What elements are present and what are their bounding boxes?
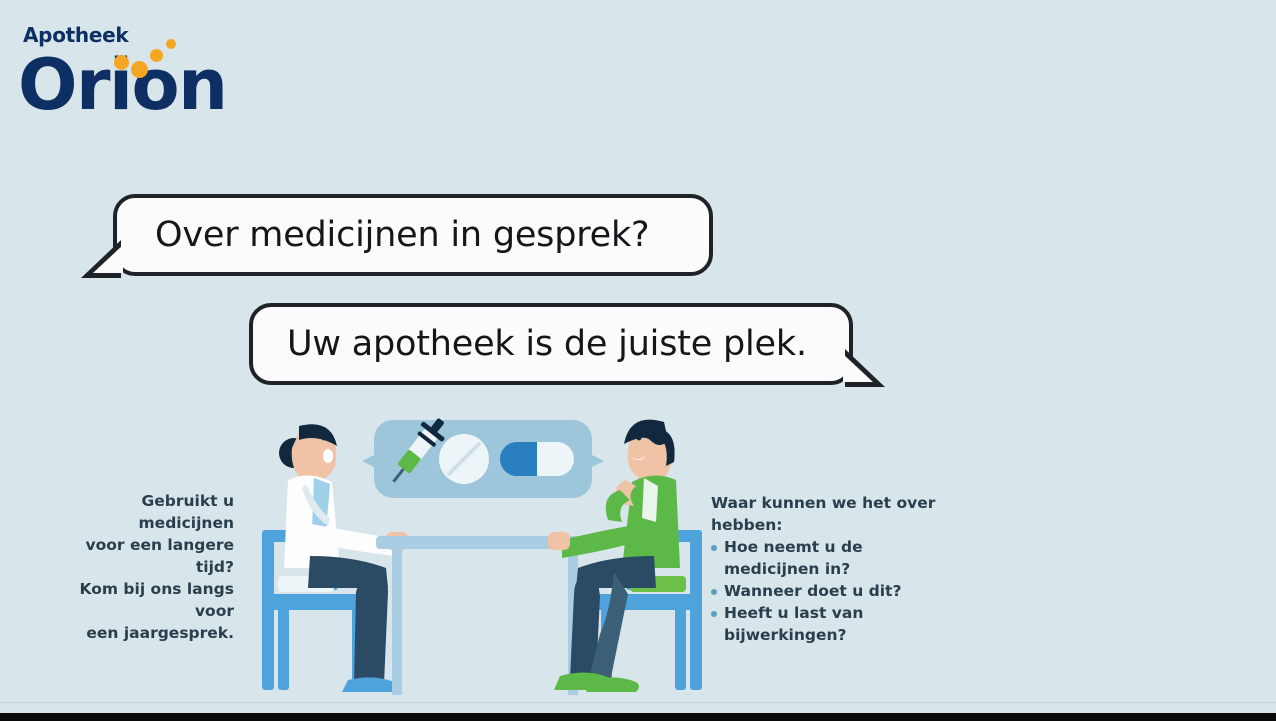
logo-word-apotheek: Apotheek	[23, 25, 128, 45]
list-item: Heeft u last van bijwerkingen?	[711, 602, 961, 646]
table-leg-left	[392, 547, 402, 695]
left-copy-block: Gebruikt u medicijnen voor een langere t…	[44, 490, 234, 644]
speech-bubble-answer-text: Uw apotheek is de juiste plek.	[287, 324, 807, 364]
speech-bubble-tail-fill	[843, 354, 873, 382]
logo-dot-small-icon	[166, 39, 176, 49]
bottom-divider	[0, 702, 1276, 703]
pill-icon	[439, 434, 489, 484]
speech-bubble-answer: Uw apotheek is de juiste plek.	[249, 303, 853, 385]
consultation-table	[376, 536, 592, 695]
consultation-scene-svg	[252, 408, 712, 708]
med-bubble-left-tail	[362, 454, 376, 468]
list-item: Hoe neemt u de medicijnen in?	[711, 536, 961, 580]
apotheek-orion-logo: Apotheek Orion	[18, 14, 248, 129]
right-copy-block: Waar kunnen we het over hebben: Hoe neem…	[711, 492, 961, 646]
logo-dot-medium-icon	[150, 49, 163, 62]
pharmacist-eye	[322, 436, 327, 441]
pharmacist-leg	[354, 568, 388, 684]
pharmacist-shoe	[342, 677, 397, 692]
logo-orange-tittle-icon	[114, 55, 129, 70]
poster-canvas: Apotheek Orion Over medicijnen in gespre…	[0, 0, 1276, 721]
patient-eye	[637, 436, 642, 441]
list-item-label: Hoe neemt u de medicijnen in?	[724, 538, 863, 578]
speech-bubble-tail-fill	[93, 245, 123, 273]
left-copy-line: Gebruikt u medicijnen	[44, 490, 234, 534]
list-item-label: Heeft u last van bijwerkingen?	[724, 604, 863, 644]
list-item-label: Wanneer doet u dit?	[724, 582, 901, 600]
patient-shoe-back	[586, 677, 639, 692]
speech-bubble-question-text: Over medicijnen in gesprek?	[155, 215, 649, 255]
left-copy-line: een jaargesprek.	[44, 622, 234, 644]
right-copy-lead: Waar kunnen we het over hebben:	[711, 492, 961, 536]
speech-bubble-question: Over medicijnen in gesprek?	[113, 194, 713, 276]
patient-hand	[548, 532, 570, 550]
logo-dot-large-icon	[131, 61, 148, 78]
left-copy-line: Kom bij ons langs voor	[44, 578, 234, 622]
list-item: Wanneer doet u dit?	[711, 580, 961, 602]
pharmacist-mouth	[323, 449, 333, 463]
med-bubble-right-tail	[590, 454, 604, 468]
medication-bubble-group	[362, 412, 604, 498]
pharmacist-patient-consultation-illustration	[252, 408, 712, 708]
right-copy-bullet-list: Hoe neemt u de medicijnen in? Wanneer do…	[711, 536, 961, 646]
bottom-black-bar	[0, 713, 1276, 721]
patient-arm	[562, 526, 630, 558]
pharmacist-coat	[284, 475, 340, 568]
capsule-icon	[500, 442, 574, 476]
left-copy-line: voor een langere tijd?	[44, 534, 234, 578]
